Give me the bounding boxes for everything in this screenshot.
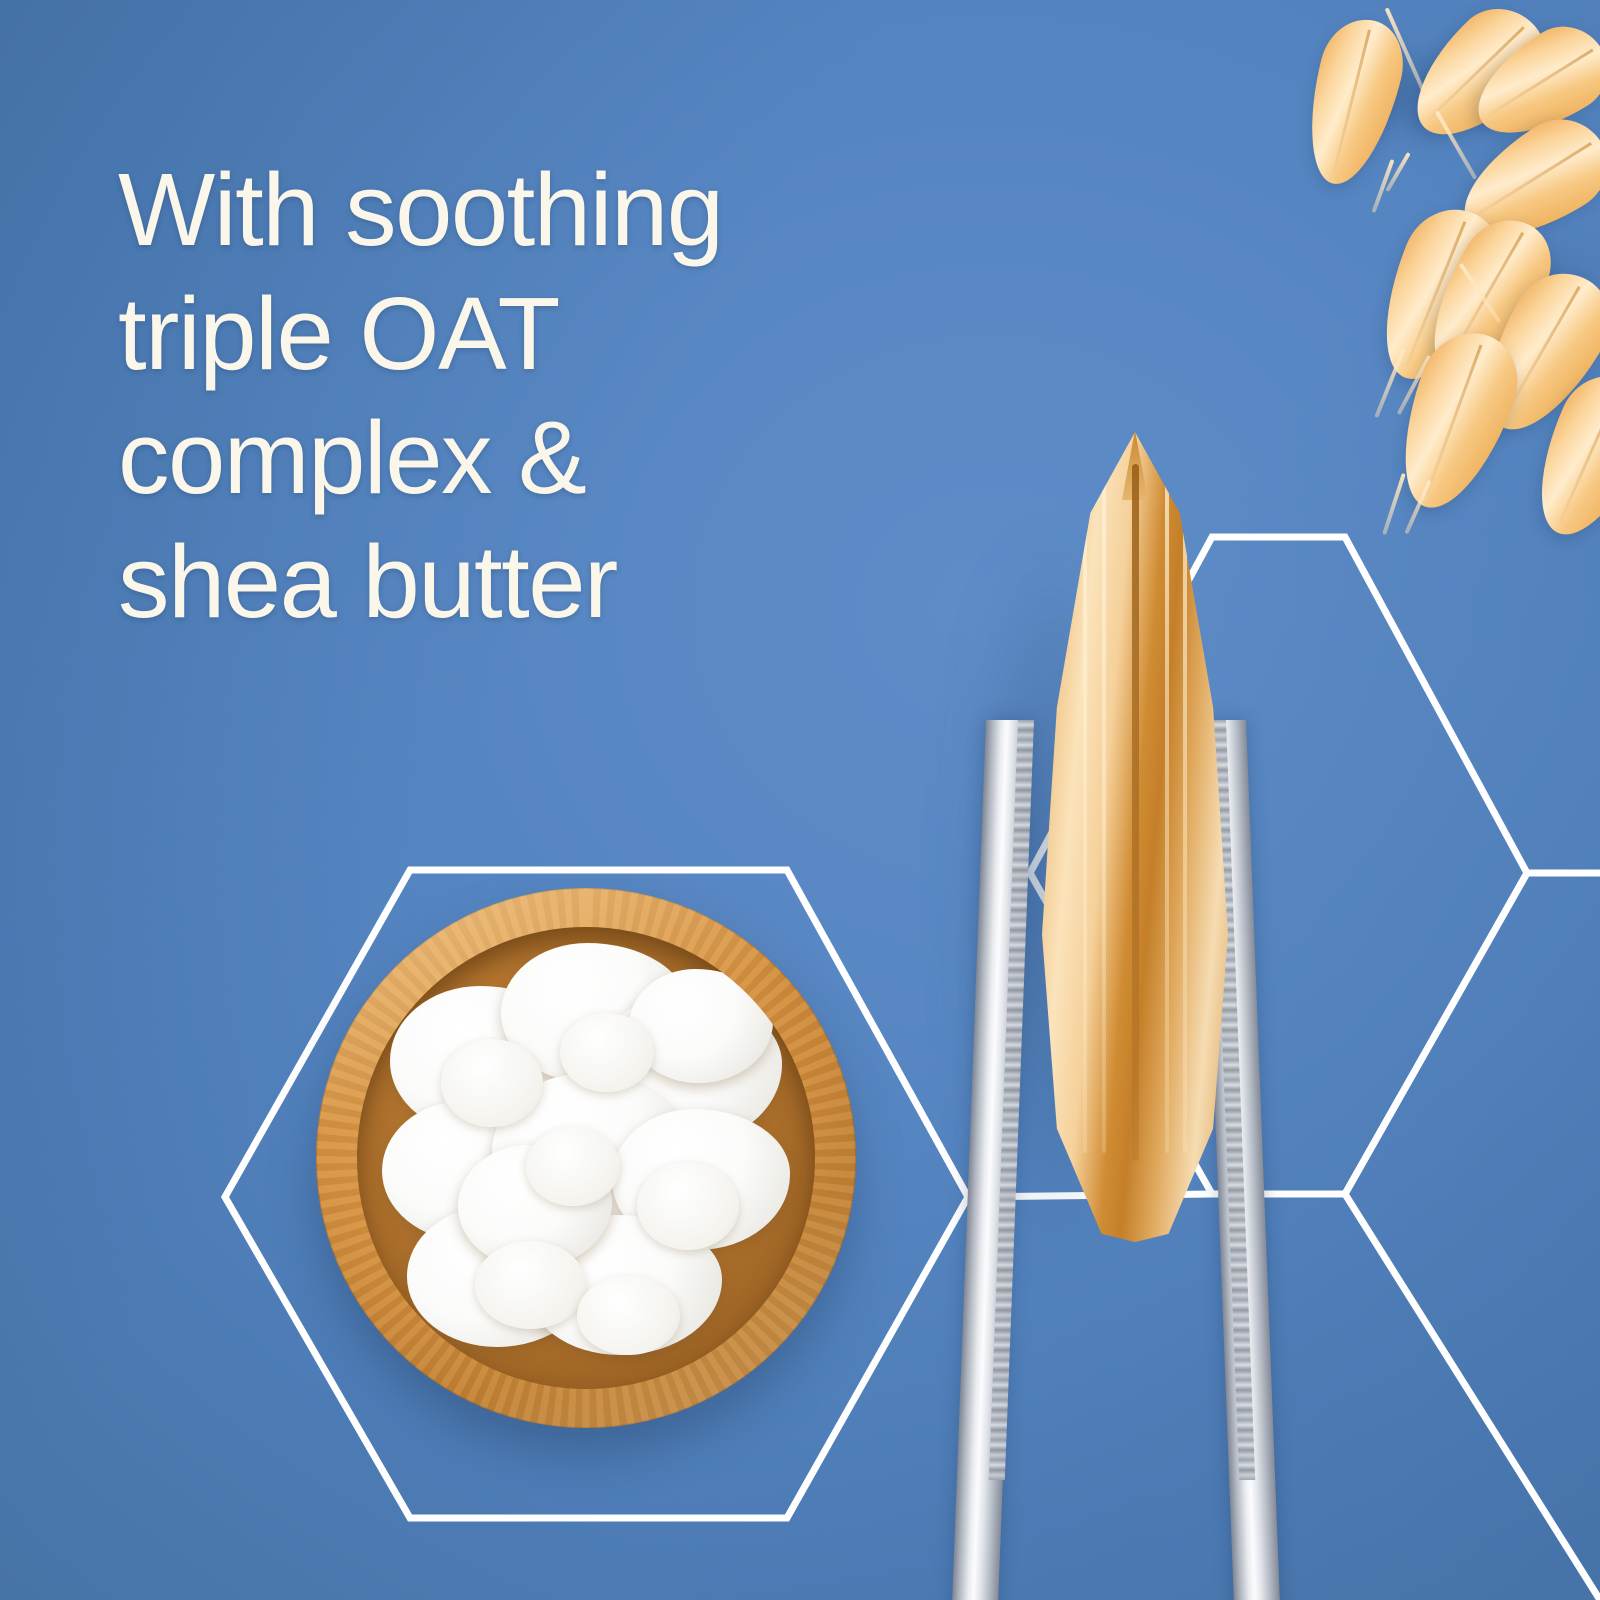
bowl-interior (357, 927, 815, 1389)
page-title: With soothing triple OAT complex & shea … (118, 148, 938, 644)
shea-butter-bowl (316, 888, 856, 1428)
oat-grain-seam (1132, 464, 1139, 1161)
product-ingredient-banner: With soothing triple OAT complex & shea … (0, 0, 1600, 1600)
hexagon-lower-right-edge (1345, 1194, 1600, 1600)
shea-butter-mass (373, 934, 799, 1373)
hexagon-lower-right (1345, 873, 1600, 1194)
